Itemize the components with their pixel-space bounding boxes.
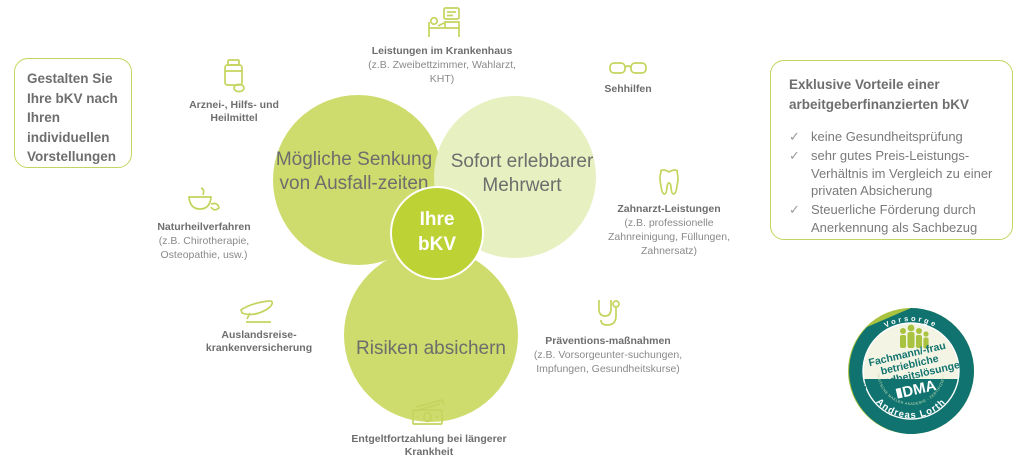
benefit-praevention-subtitle: (z.B. Vorsorgeunter-suchungen, Impfungen… <box>532 349 684 376</box>
venn-center-line1: Ihre <box>420 209 455 230</box>
benefit-auslandsreise: Auslandsreise-krankenversicherung <box>182 298 336 357</box>
venn-center-line2: bKV <box>418 234 456 255</box>
advantage-label: Steuerliche Förderung durch Anerkennung … <box>811 201 1000 236</box>
check-icon: ✓ <box>789 201 811 218</box>
advantages-list: ✓ keine Gesundheitsprüfung ✓ sehr gutes … <box>789 128 1000 236</box>
intro-callout-text: Gestalten Sie Ihre bKV nach Ihren indivi… <box>27 69 121 167</box>
mortar-pestle-icon <box>128 186 280 216</box>
benefit-entgeltfortzahlung-title: Entgeltfortzahlung bei längerer Krankhei… <box>336 433 522 460</box>
hospital-bed-icon <box>368 6 516 40</box>
benefit-naturheilverfahren: Naturheilverfahren (z.B. Chirotherapie, … <box>128 186 280 263</box>
venn-circle-risiken-label: Risiken absichern <box>356 337 506 362</box>
advantage-label: sehr gutes Preis-Leistungs-Verhältnis im… <box>811 147 1000 199</box>
dma-certification-badge: Fachmann/-frau betriebliche Gesundheitsl… <box>845 305 977 437</box>
advantage-item: ✓ sehr gutes Preis-Leistungs-Verhältnis … <box>789 147 1000 199</box>
benefit-krankenhaus-subtitle: (z.B. Zweibettzimmer, Wahlarzt, KHT) <box>368 59 516 86</box>
benefit-praevention-title: Präventions-maßnahmen <box>532 335 684 348</box>
benefit-zahnarzt-title: Zahnarzt-Leistungen <box>596 203 742 216</box>
check-icon: ✓ <box>789 128 811 145</box>
medicine-bottle-icon <box>170 58 298 94</box>
advantages-callout-box: Exklusive Vorteile einer arbeitgeberfina… <box>770 60 1013 240</box>
benefit-zahnarzt-subtitle: (z.B. professionelle Zahnreinigung, Füll… <box>596 217 742 258</box>
venn-center-label: Ihre bKV <box>418 208 456 257</box>
benefit-naturheilverfahren-subtitle: (z.B. Chirotherapie, Osteopathie, usw.) <box>128 235 280 262</box>
benefit-krankenhaus-title: Leistungen im Krankenhaus <box>368 45 516 58</box>
stethoscope-icon <box>532 298 684 330</box>
benefit-entgeltfortzahlung: Entgeltfortzahlung bei längerer Krankhei… <box>336 398 522 461</box>
benefit-arznei: Arznei-, Hilfs- und Heilmittel <box>170 58 298 127</box>
tooth-icon <box>596 168 742 198</box>
benefit-sehhilfen-title: Sehhilfen <box>570 83 686 96</box>
venn-center-ihre-bkv: Ihre bKV <box>390 186 484 280</box>
advantage-label: keine Gesundheitsprüfung <box>811 128 1000 145</box>
check-icon: ✓ <box>789 147 811 164</box>
benefit-zahnarzt: Zahnarzt-Leistungen (z.B. professionelle… <box>596 168 742 258</box>
banknotes-icon <box>336 398 522 428</box>
benefit-krankenhaus: Leistungen im Krankenhaus (z.B. Zweibett… <box>368 6 516 87</box>
benefit-auslandsreise-title: Auslandsreise-krankenversicherung <box>182 329 336 356</box>
benefit-praevention: Präventions-maßnahmen (z.B. Vorsorgeunte… <box>532 298 684 377</box>
glasses-icon <box>570 58 686 78</box>
benefit-naturheilverfahren-title: Naturheilverfahren <box>128 221 280 234</box>
venn-circle-mehrwert-label: Sofort erlebbarer Mehrwert <box>448 150 596 198</box>
airplane-icon <box>182 298 336 324</box>
benefit-arznei-title: Arznei-, Hilfs- und Heilmittel <box>170 99 298 126</box>
venn-circle-ausfallzeiten-label: Mögliche Senkung von Ausfall-zeiten <box>273 148 435 196</box>
advantage-item: ✓ keine Gesundheitsprüfung <box>789 128 1000 145</box>
benefit-sehhilfen: Sehhilfen <box>570 58 686 97</box>
advantage-item: ✓ Steuerliche Förderung durch Anerkennun… <box>789 201 1000 236</box>
intro-callout-box: Gestalten Sie Ihre bKV nach Ihren indivi… <box>14 58 132 168</box>
advantages-title: Exklusive Vorteile einer arbeitgeberfina… <box>789 75 1000 114</box>
